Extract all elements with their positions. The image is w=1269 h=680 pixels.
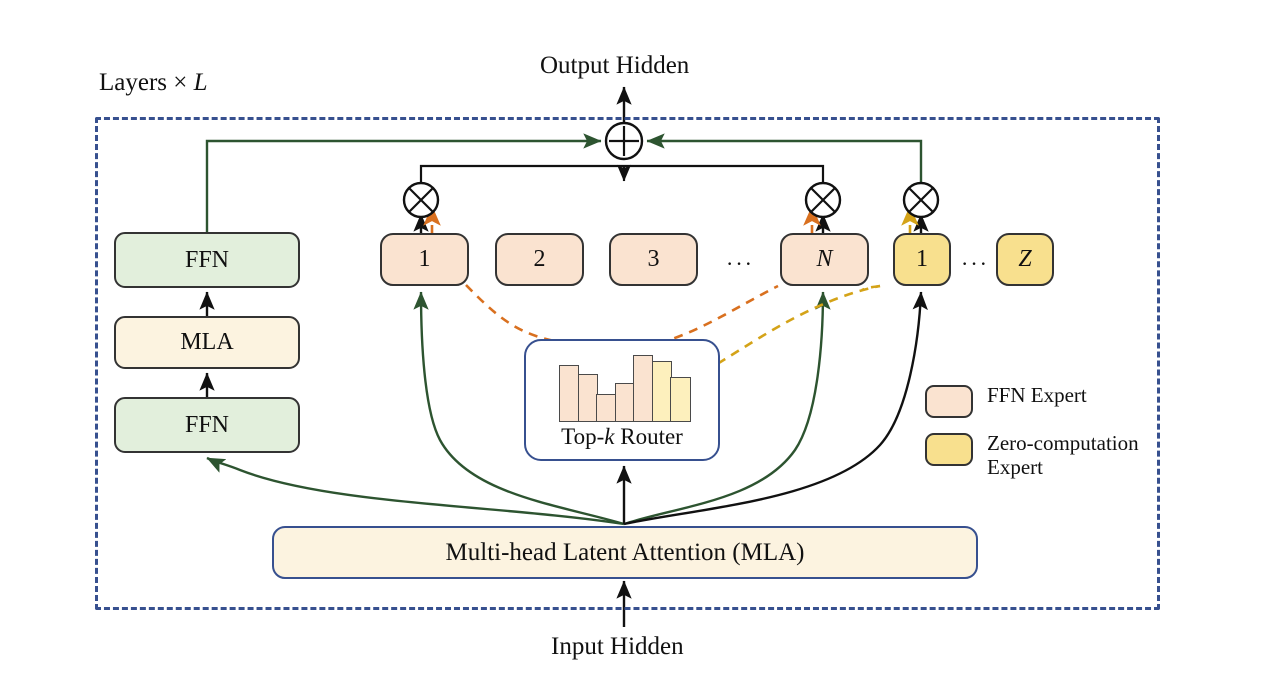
legend: FFN Expert Zero-computation Expert xyxy=(925,383,1155,493)
figure-canvas: Layers × L Output Hidden Input Hidden FF… xyxy=(0,0,1269,680)
router-histogram xyxy=(559,349,689,422)
ffn-expert-1[interactable]: 1 xyxy=(380,233,469,286)
layers-caption-symbol: L xyxy=(194,69,208,96)
router-bar-2 xyxy=(578,374,598,422)
router-bar-4 xyxy=(615,383,635,422)
layers-caption-prefix: Layers × xyxy=(99,69,194,96)
topk-router-box[interactable]: Top-k Router xyxy=(524,339,720,461)
router-bar-6 xyxy=(652,361,672,422)
router-bar-7 xyxy=(670,377,690,422)
zero-expert-ellipsis: ··· xyxy=(961,251,989,277)
router-caption: Top-k Router xyxy=(526,424,718,450)
legend-label-ffn-expert: FFN Expert xyxy=(987,383,1087,407)
legend-swatch-zero-expert xyxy=(925,433,973,466)
router-bar-5 xyxy=(633,355,653,422)
ffn-block-bottom[interactable]: FFN xyxy=(114,397,300,453)
ffn-expert-n[interactable]: N xyxy=(780,233,869,286)
mla-block[interactable]: MLA xyxy=(114,316,300,369)
zero-expert-z[interactable]: Z xyxy=(996,233,1054,286)
layers-caption: Layers × L xyxy=(99,70,208,95)
ffn-expert-ellipsis: ··· xyxy=(726,251,754,277)
legend-swatch-ffn-expert xyxy=(925,385,973,418)
ffn-expert-2[interactable]: 2 xyxy=(495,233,584,286)
router-caption-suffix: Router xyxy=(614,424,682,449)
ffn-block-top[interactable]: FFN xyxy=(114,232,300,288)
multi-head-latent-attention-bar[interactable]: Multi-head Latent Attention (MLA) xyxy=(272,526,978,579)
ffn-expert-3[interactable]: 3 xyxy=(609,233,698,286)
router-caption-prefix: Top- xyxy=(561,424,604,449)
router-bar-1 xyxy=(559,365,579,422)
legend-label-zero-expert: Zero-computation Expert xyxy=(987,431,1155,480)
legend-row-ffn-expert: FFN Expert xyxy=(925,383,1155,418)
output-hidden-label: Output Hidden xyxy=(540,53,689,78)
input-hidden-label: Input Hidden xyxy=(551,634,684,659)
router-caption-symbol: k xyxy=(604,424,614,449)
legend-row-zero-expert: Zero-computation Expert xyxy=(925,431,1155,480)
router-bar-3 xyxy=(596,394,616,422)
zero-expert-1[interactable]: 1 xyxy=(893,233,951,286)
